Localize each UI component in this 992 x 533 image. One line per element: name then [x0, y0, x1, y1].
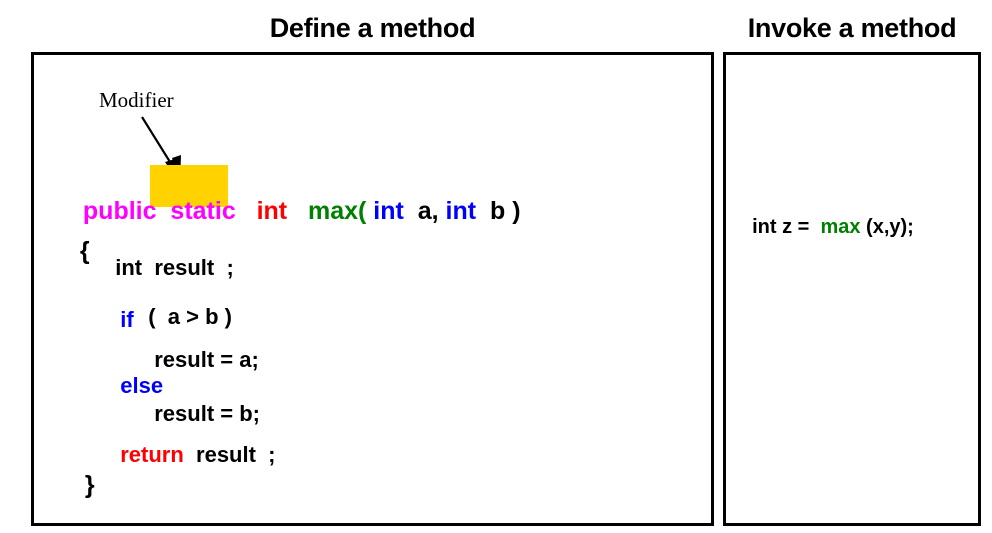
code-line-declaration: int result ;	[103, 235, 234, 279]
token-int-z-assign: int z =	[752, 216, 820, 238]
token-comma: ,	[432, 197, 446, 225]
token-param-type-int-a: int	[373, 197, 404, 225]
annotation-label-modifier: Modifier	[99, 90, 174, 111]
token-condition-a-gt-b: ( a > b )	[148, 304, 232, 329]
panel-invoke-a-method	[723, 52, 981, 526]
token-call-args: (x,y);	[861, 216, 914, 238]
token-public: public	[83, 197, 157, 225]
token-param-type-int-b: int	[446, 197, 477, 225]
code-line-open-brace: {	[66, 214, 90, 264]
code-line-if-keyword: if	[108, 287, 134, 331]
token-space-2	[236, 197, 257, 225]
token-space-1	[157, 197, 171, 225]
token-open-brace: {	[80, 237, 90, 265]
token-if: if	[120, 307, 133, 332]
token-param-b-close: b )	[476, 197, 520, 225]
code-line-if-condition: ( a > b )	[136, 284, 232, 328]
token-param-a: a	[404, 197, 432, 225]
page-title-define-a-method: Define a method	[0, 15, 745, 42]
code-line-method-invocation: int z = max (x,y);	[741, 197, 914, 237]
token-close-brace: }	[85, 471, 95, 499]
token-return: return	[120, 442, 184, 467]
code-line-return: return result ;	[108, 422, 275, 466]
page-title-invoke-a-method: Invoke a method	[723, 15, 981, 42]
token-static: static	[170, 197, 235, 225]
token-method-name-max: max(	[308, 197, 366, 225]
token-space-3	[287, 197, 308, 225]
code-line-close-brace: }	[71, 448, 95, 498]
token-return-value-result: result ;	[184, 442, 276, 467]
token-int-result-decl: int result ;	[115, 255, 234, 280]
token-result-equals-a: result = a;	[154, 347, 259, 372]
code-line-else-branch: result = b;	[142, 381, 260, 425]
code-line-signature: public static int max( int a, int b )	[69, 174, 521, 224]
token-return-type-int: int	[257, 197, 288, 225]
token-call-max: max	[820, 216, 860, 238]
